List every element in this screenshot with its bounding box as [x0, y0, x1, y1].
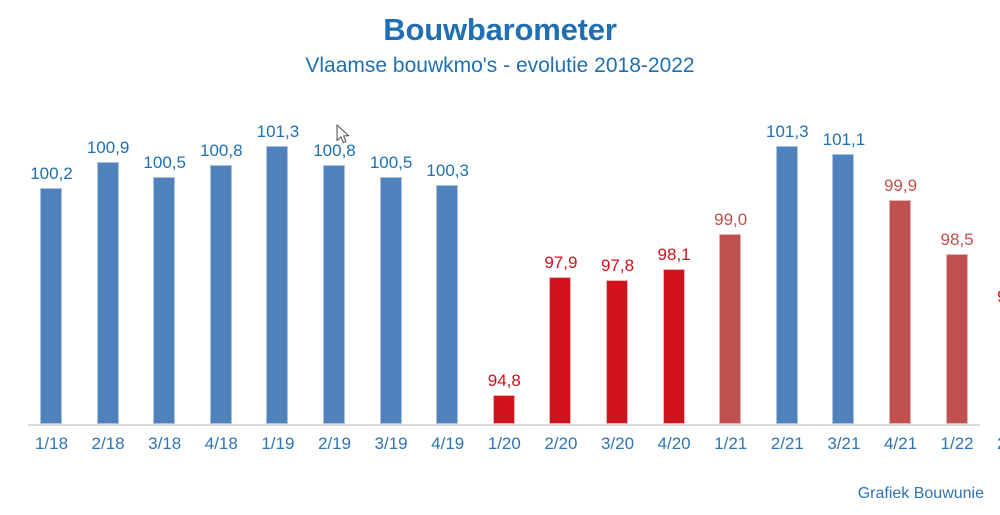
bar[interactable] — [776, 146, 798, 424]
bar-group: 98,51/22 — [929, 0, 986, 515]
bar[interactable] — [436, 185, 458, 424]
bar-group: 101,32/21 — [759, 0, 816, 515]
bar-value-label: 100,3 — [413, 161, 482, 181]
bar-value-label: 98,1 — [640, 245, 709, 265]
bar[interactable] — [97, 162, 119, 424]
bar-group: 94,81/20 — [476, 0, 533, 515]
bar-group: 101,31/19 — [249, 0, 306, 515]
bouwbarometer-chart: Bouwbarometer Vlaamse bouwkmo's - evolut… — [0, 0, 1000, 515]
bar-group: 101,13/21 — [815, 0, 872, 515]
category-axis-label: 2/22 — [979, 434, 1000, 454]
bar[interactable] — [832, 154, 854, 424]
bar[interactable] — [323, 165, 345, 424]
chart-credit: Grafiek Bouwunie — [858, 485, 984, 503]
bar[interactable] — [719, 234, 741, 424]
bar[interactable] — [380, 177, 402, 424]
bar-value-label: 98,5 — [923, 230, 992, 250]
bar-group: 98,14/20 — [646, 0, 703, 515]
bar-group: 97,92/20 — [532, 0, 589, 515]
bar[interactable] — [266, 146, 288, 424]
bar-value-label: 100,2 — [17, 164, 86, 184]
bar-group: 100,84/18 — [193, 0, 250, 515]
bar[interactable] — [210, 165, 232, 424]
bar[interactable] — [663, 269, 685, 424]
plot-area: 100,21/18100,92/18100,53/18100,84/18101,… — [0, 0, 1000, 515]
bar[interactable] — [549, 277, 571, 424]
bar[interactable] — [153, 177, 175, 424]
bar-group: 100,53/18 — [136, 0, 193, 515]
bar-value-label: 101,3 — [243, 122, 312, 142]
category-axis-line — [28, 424, 980, 426]
bar-group: 100,34/19 — [419, 0, 476, 515]
bar-group: 97,02/22 — [985, 0, 1000, 515]
bar[interactable] — [946, 254, 968, 424]
bar-value-label: 99,9 — [866, 176, 935, 196]
bar-group: 100,21/18 — [23, 0, 80, 515]
bar[interactable] — [493, 395, 515, 424]
bar-group: 99,01/21 — [702, 0, 759, 515]
bar-value-label: 99,0 — [696, 210, 765, 230]
bar-group: 100,92/18 — [80, 0, 137, 515]
bar-group: 99,94/21 — [872, 0, 929, 515]
bar-value-label: 94,8 — [470, 371, 539, 391]
bar-group: 97,83/20 — [589, 0, 646, 515]
bar-value-label: 101,1 — [809, 130, 878, 150]
bar-value-label: 100,8 — [187, 141, 256, 161]
bar[interactable] — [889, 200, 911, 424]
bar-group: 100,82/19 — [306, 0, 363, 515]
bar[interactable] — [606, 280, 628, 424]
bar-value-label: 97,0 — [979, 287, 1000, 307]
bar[interactable] — [40, 188, 62, 424]
bar-group: 100,53/19 — [363, 0, 420, 515]
